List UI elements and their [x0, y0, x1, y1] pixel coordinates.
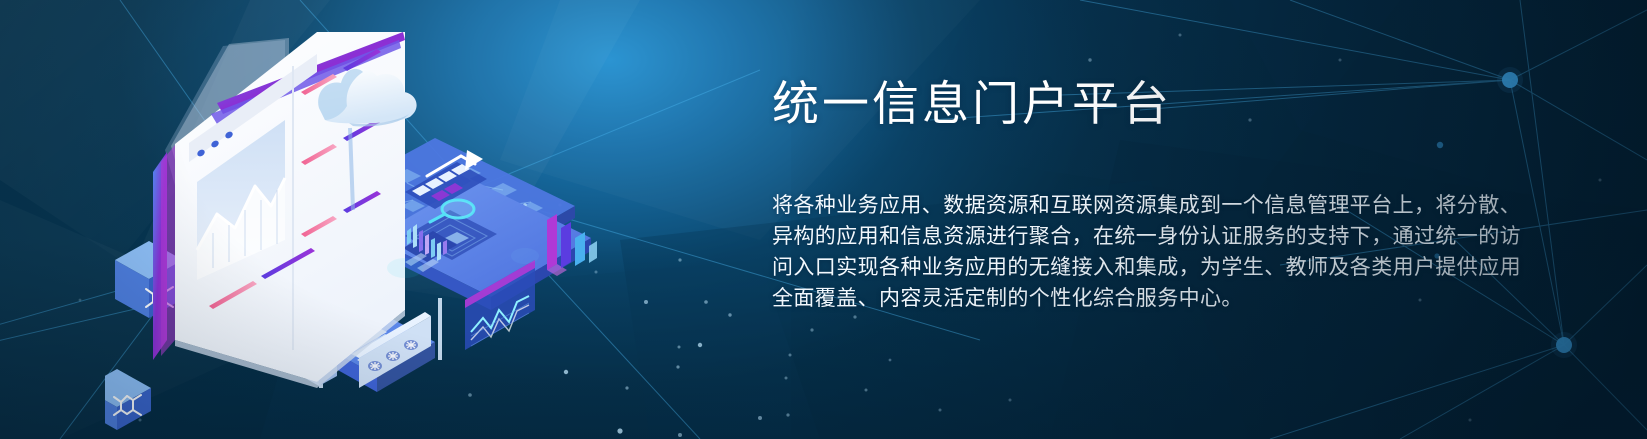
- banner-copy: 统一信息门户平台 将各种业务应用、数据资源和互联网资源集成到一个信息管理平台上，…: [772, 78, 1472, 314]
- page-title: 统一信息门户平台: [772, 78, 1472, 131]
- app-cube-icon: [105, 369, 151, 430]
- hero-banner: 统一信息门户平台 将各种业务应用、数据资源和互联网资源集成到一个信息管理平台上，…: [0, 0, 1647, 439]
- description-line: 问入口实现各种业务应用的无缝接入和集成，为学生、教师及各类用户提供应用: [772, 252, 1472, 283]
- platform-illustration: [105, 10, 605, 430]
- description-line: 全面覆盖、内容灵活定制的个性化综合服务中心。: [772, 283, 1472, 314]
- description-line: 异构的应用和信息资源进行聚合，在统一身份认证服务的支持下，通过统一的访: [772, 221, 1472, 252]
- banner-description: 将各种业务应用、数据资源和互联网资源集成到一个信息管理平台上，将分散、 异构的应…: [772, 190, 1472, 314]
- description-line: 将各种业务应用、数据资源和互联网资源集成到一个信息管理平台上，将分散、: [772, 190, 1472, 221]
